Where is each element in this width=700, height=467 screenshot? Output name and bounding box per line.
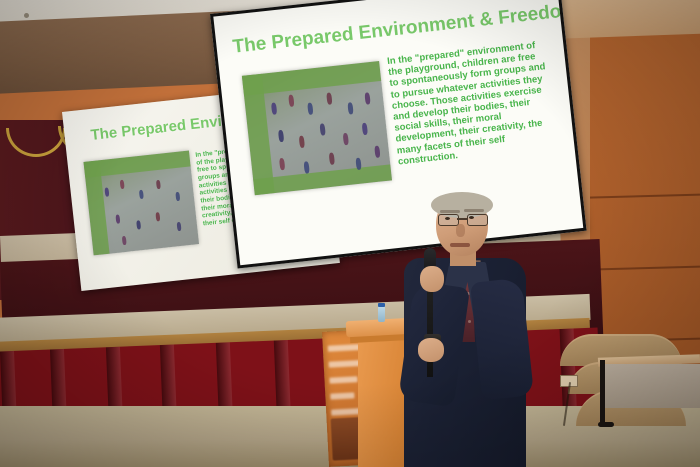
slide-photo-left [84,151,200,256]
ceiling-fixture-icon [24,13,29,18]
water-bottle-cap [378,303,385,307]
hand-left [418,338,444,362]
table-leg [600,360,605,426]
slide-body-right: In the "prepared" environment of the pla… [387,39,556,167]
mouth [450,243,470,247]
table-foot [598,422,614,427]
slide-photo-right [242,61,392,195]
nose [456,224,465,237]
water-bottle[interactable] [378,306,385,322]
presentation-photo-scene: The Prepared Environment In the "prepare… [0,0,700,467]
hand-right [420,266,444,292]
side-table-front [600,364,700,408]
speaker-presenter [398,188,528,467]
